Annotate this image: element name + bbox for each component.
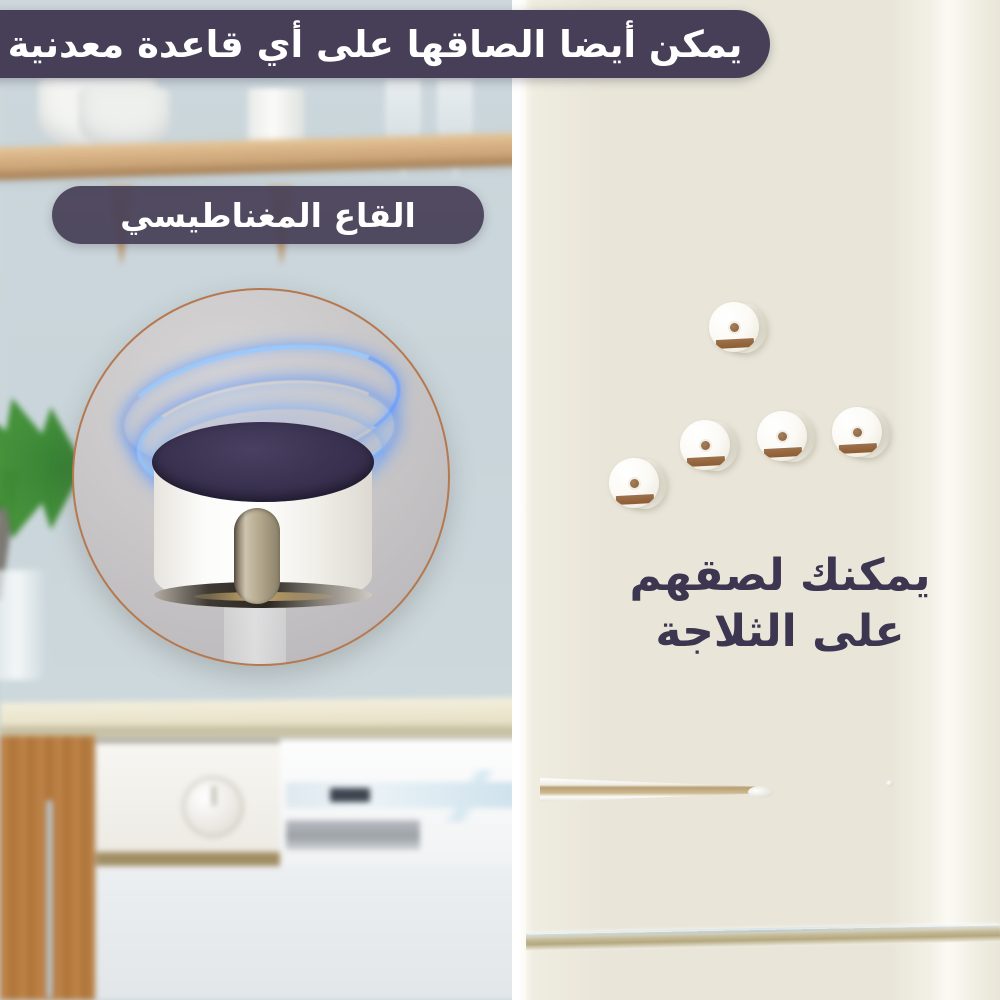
magnetic-base-badge-label: القاع المغناطيسي	[120, 199, 416, 232]
magnet-1	[709, 302, 761, 354]
dishwasher-lower-door	[96, 866, 520, 1000]
magnet-slot	[616, 494, 654, 505]
dishwasher-pull-handle-icon	[286, 820, 420, 850]
refrigerator-screw-dot	[886, 780, 893, 787]
magnet-face	[609, 458, 659, 508]
magnet-slot	[687, 456, 725, 467]
cabinet-handle-icon	[46, 800, 53, 998]
white-bowl-small-icon	[78, 88, 170, 150]
magnet-center-dot-icon	[730, 323, 739, 332]
magnet-face	[757, 411, 807, 461]
refrigerator-handle-cap	[748, 786, 774, 798]
magnet-4	[757, 411, 809, 463]
fridge-caption: يمكنك لصقهم على الثلاجة	[600, 548, 960, 661]
magnet-face	[680, 420, 730, 470]
refrigerator-edge-highlight	[512, 0, 526, 1000]
control-panel-strip	[286, 782, 516, 808]
magnet-slot	[716, 338, 754, 349]
fridge-caption-line1: يمكنك لصقهم	[600, 548, 960, 604]
control-display-icon	[330, 788, 370, 802]
magnet-center-dot-icon	[778, 432, 787, 441]
refrigerator-door	[512, 0, 1000, 1000]
product-slot	[234, 508, 280, 604]
glass-vase-icon	[0, 570, 44, 680]
magnet-slot	[764, 447, 802, 458]
dishwasher-dial-icon	[182, 776, 244, 838]
magnet-center-dot-icon	[630, 479, 639, 488]
magnet-3	[680, 420, 732, 472]
product-magnetic-top	[152, 422, 374, 502]
magnetic-base-badge: القاع المغناطيسي	[52, 186, 484, 244]
magnet-2	[609, 458, 661, 510]
magnet-face	[709, 302, 759, 352]
magnet-center-dot-icon	[853, 428, 862, 437]
top-banner-text: يمكن أيضا الصاقها على أي قاعدة معدنية	[0, 26, 768, 63]
magnet-center-dot-icon	[701, 441, 710, 450]
magnet-face	[832, 407, 882, 457]
fridge-caption-line2: على الثلاجة	[600, 604, 960, 660]
magnet-5	[832, 407, 884, 459]
product-ad-scene: يمكن أيضا الصاقها على أي قاعدة معدنية ال…	[0, 0, 1000, 1000]
top-banner: يمكن أيضا الصاقها على أي قاعدة معدنية	[0, 10, 770, 78]
magnet-slot	[839, 443, 877, 454]
product-stand	[224, 602, 286, 666]
magnetic-base-closeup	[72, 288, 450, 666]
